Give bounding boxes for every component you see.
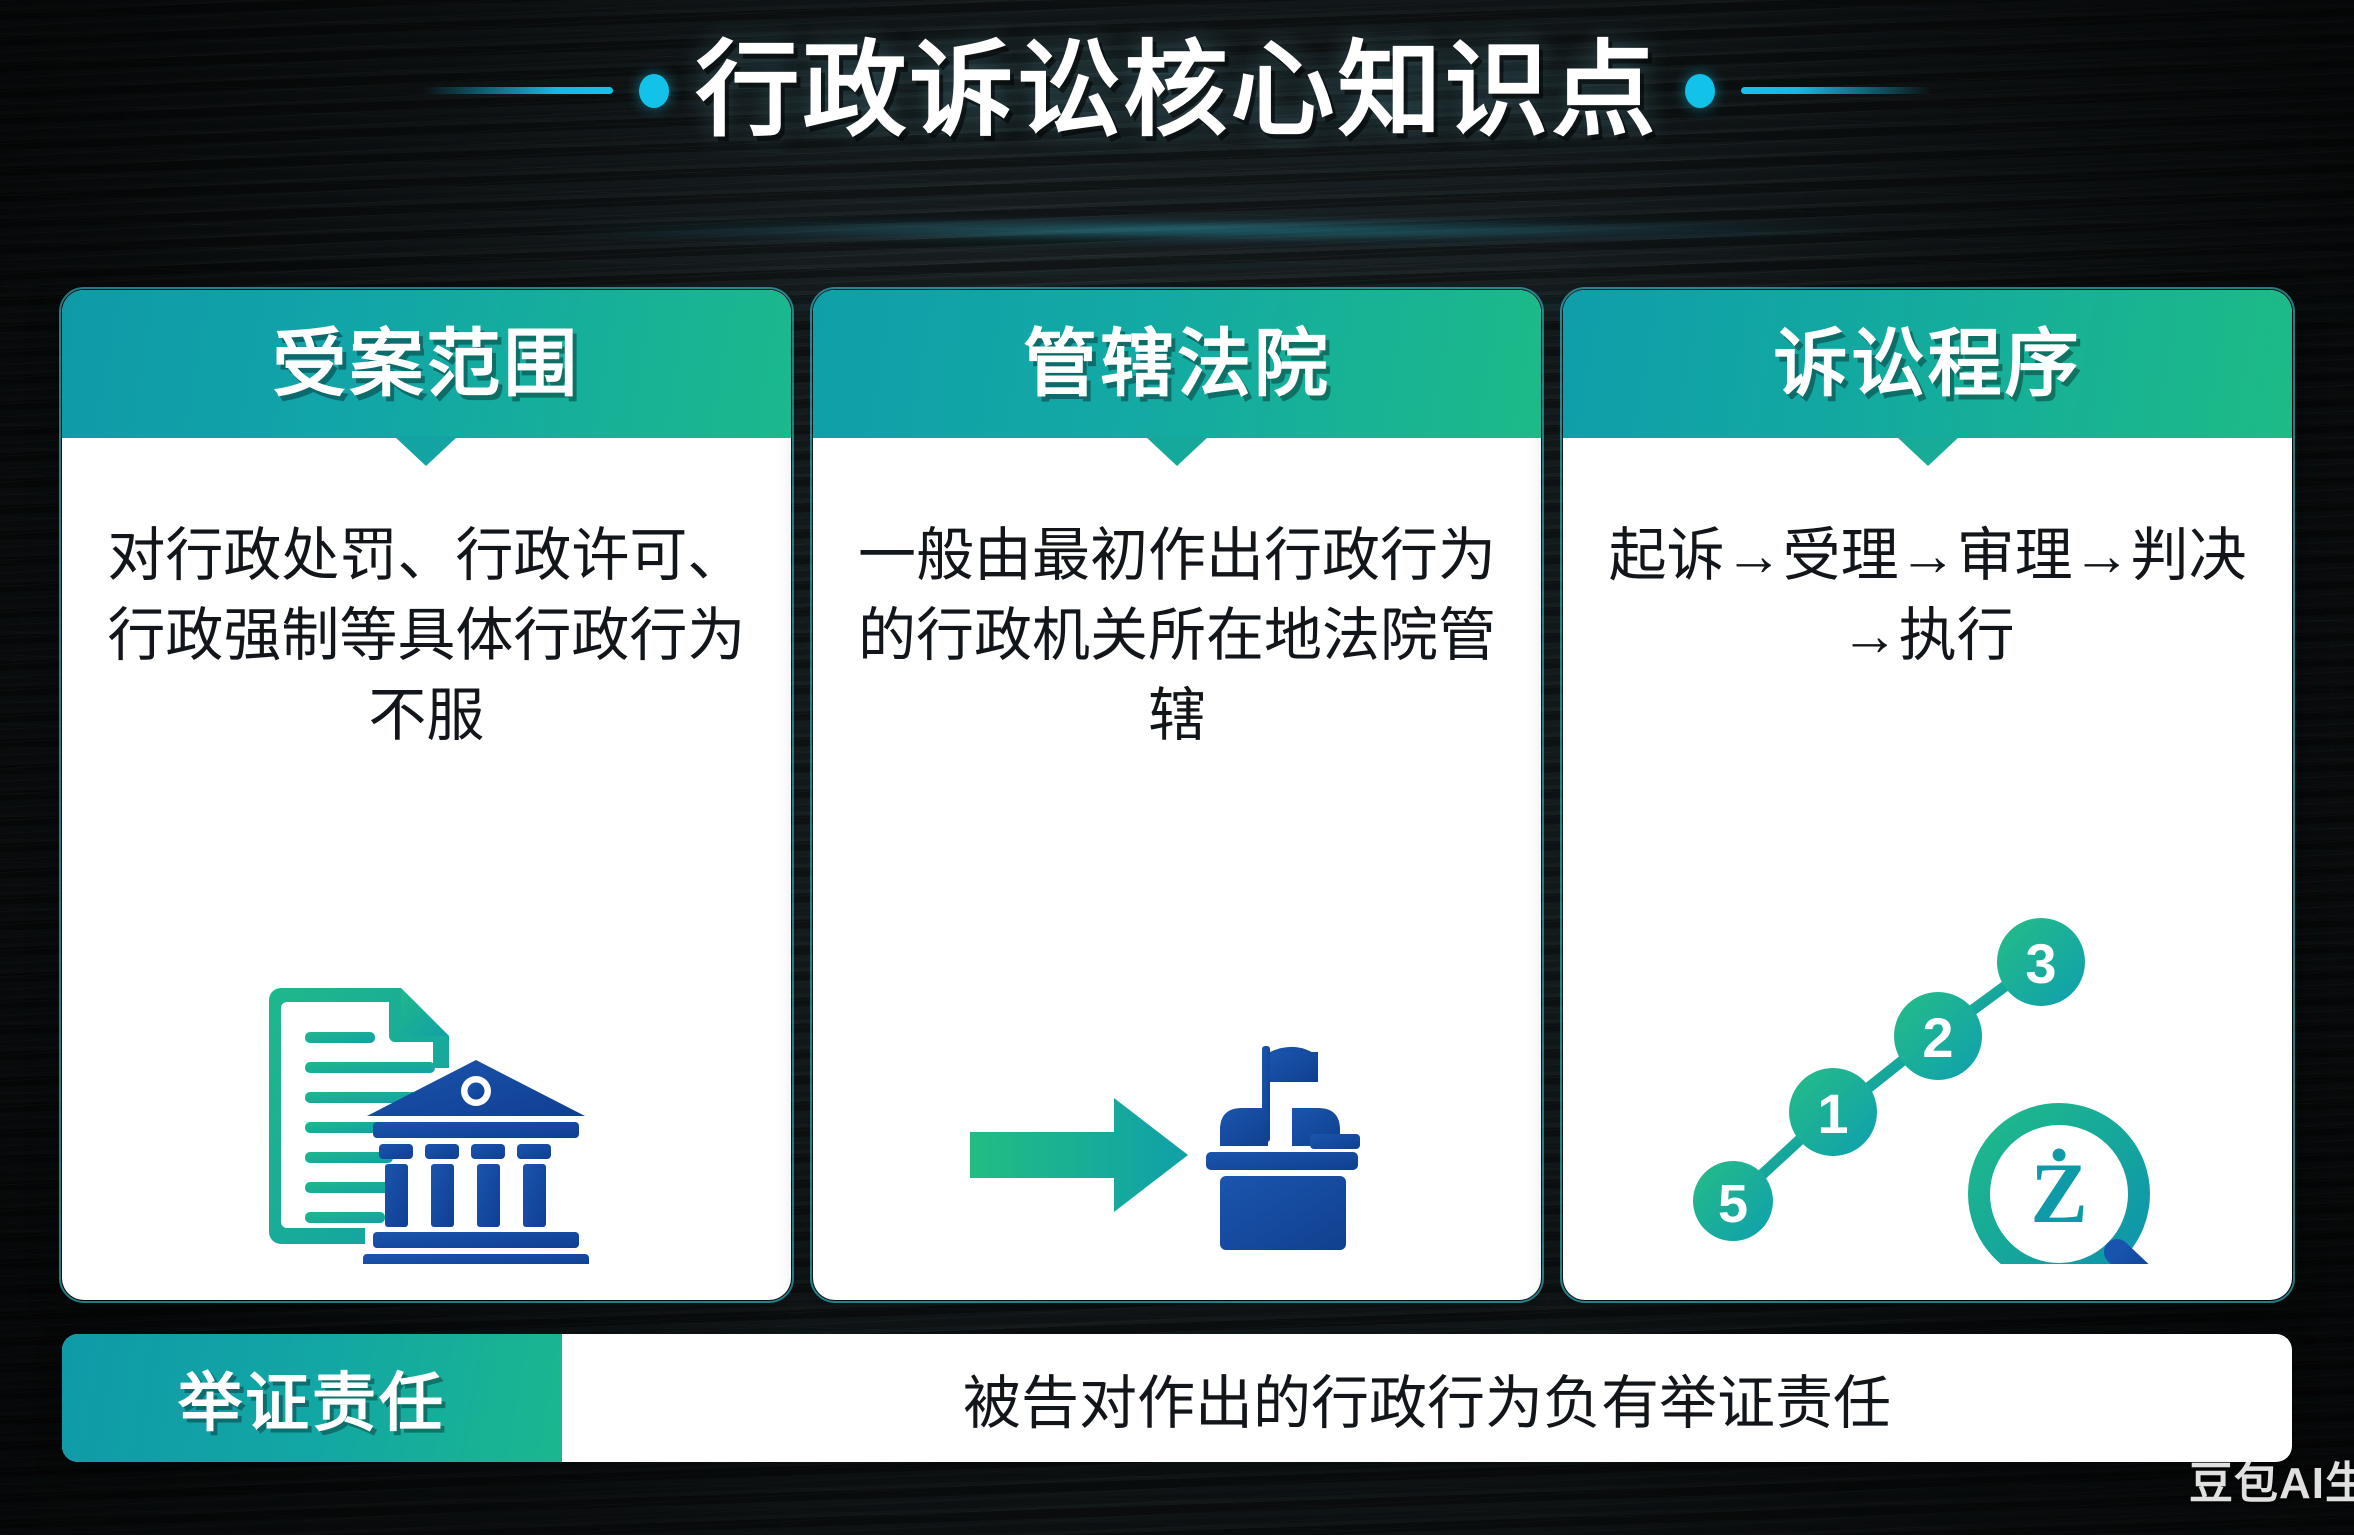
footer-label: 举证责任 xyxy=(62,1334,562,1462)
node-label-5: 5 xyxy=(1718,1174,1748,1234)
card-header: 诉讼程序 xyxy=(1563,290,2292,438)
card-scope-of-acceptance[interactable]: 受案范围 对行政处罚、行政许可、行政强制等具体行政行为不服 xyxy=(62,290,791,1300)
card-text: 起诉→受理→审理→判决→执行 xyxy=(1607,516,2248,676)
card-grid: 受案范围 对行政处罚、行政许可、行政强制等具体行政行为不服 xyxy=(62,290,2292,1300)
card-title: 诉讼程序 xyxy=(1774,327,2082,401)
title-decoration-line-left xyxy=(423,87,613,94)
card-body: 起诉→受理→审理→判决→执行 xyxy=(1563,438,2292,1300)
header-notch-arrow xyxy=(394,436,458,466)
card-jurisdiction-court[interactable]: 管辖法院 一般由最初作出行政行为的行政机关所在地法院管辖 xyxy=(813,290,1542,1300)
title-decoration-dot-right xyxy=(1685,74,1715,108)
header-notch-arrow xyxy=(1145,436,1209,466)
title-decoration-dot-left xyxy=(639,74,669,108)
document-courthouse-icon xyxy=(106,974,747,1264)
node-label-3: 3 xyxy=(2025,932,2056,995)
card-title: 受案范围 xyxy=(272,327,580,401)
card-text: 对行政处罚、行政许可、行政强制等具体行政行为不服 xyxy=(106,516,747,756)
background-glow-streak xyxy=(560,222,1860,238)
card-body: 对行政处罚、行政许可、行政强制等具体行政行为不服 xyxy=(62,438,791,1300)
node-label-2: 2 xyxy=(1922,1006,1953,1069)
watermark: 豆包AI生 xyxy=(2189,1447,2354,1511)
infographic-canvas: 行政诉讼核心知识点 受案范围 对行政处罚、行政许可、行政强制等具体行政行为不服 xyxy=(0,0,2354,1535)
burden-of-proof-bar[interactable]: 举证责任 被告对作出的行政行为负有举证责任 xyxy=(62,1334,2292,1462)
card-body: 一般由最初作出行政行为的行政机关所在地法院管辖 xyxy=(813,438,1542,1300)
process-nodes-magnifier-icon: Ż 5 1 2 3 xyxy=(1607,904,2248,1264)
footer-text: 被告对作出的行政行为负有举证责任 xyxy=(562,1334,2292,1462)
node-label-1: 1 xyxy=(1817,1082,1848,1145)
arrow-judge-bench-icon xyxy=(857,1034,1498,1264)
header-notch-arrow xyxy=(1896,436,1960,466)
card-title: 管辖法院 xyxy=(1023,327,1331,401)
card-text: 一般由最初作出行政行为的行政机关所在地法院管辖 xyxy=(857,516,1498,756)
card-header: 管辖法院 xyxy=(813,290,1542,438)
magnifier-glyph: Ż xyxy=(2030,1145,2087,1241)
card-header: 受案范围 xyxy=(62,290,791,438)
page-title: 行政诉讼核心知识点 xyxy=(695,39,1658,143)
card-litigation-procedure[interactable]: 诉讼程序 起诉→受理→审理→判决→执行 xyxy=(1563,290,2292,1300)
title-row: 行政诉讼核心知识点 xyxy=(0,28,2354,153)
title-decoration-line-right xyxy=(1741,87,1931,94)
